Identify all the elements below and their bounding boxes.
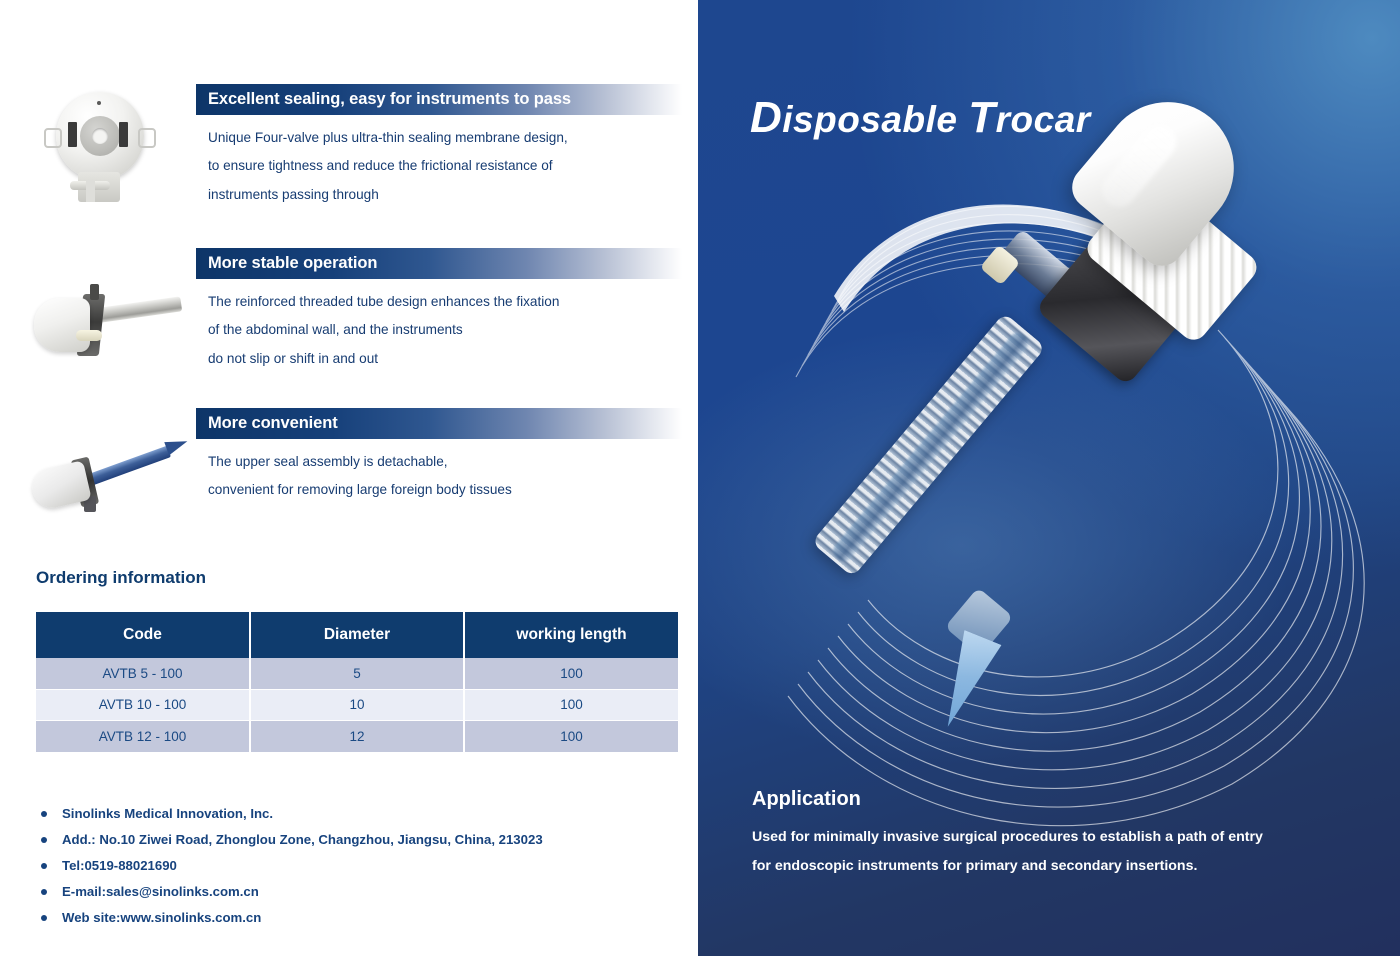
table-row: AVTB 5 - 100 5 100 [36,658,678,689]
trocar-seal-top-view-image [28,84,188,204]
feature-text-line: Unique Four-valve plus ultra-thin sealin… [208,128,682,147]
cell-diameter: 5 [250,658,464,689]
feature-text-line: do not slip or shift in and out [208,349,682,368]
contact-email[interactable]: E-mail:sales@sinolinks.com.cn [38,884,543,899]
page-title-initial-t: T [968,93,995,142]
cell-working-length: 100 [464,689,678,721]
page-title: Disposable Trocar [750,93,1091,143]
feature-text-line: of the abdominal wall, and the instrumen… [208,320,682,339]
feature-text-2: The reinforced threaded tube design enha… [196,279,682,368]
feature-text-1: Unique Four-valve plus ultra-thin sealin… [196,115,682,204]
application-title: Application [752,788,1352,811]
feature-text-line: convenient for removing large foreign bo… [208,480,682,499]
ordering-information-table: Code Diameter working length AVTB 5 - 10… [36,612,678,753]
cell-diameter: 12 [250,721,464,753]
trocar-obturator-image [28,422,188,542]
application-text-line: Used for minimally invasive surgical pro… [752,827,1352,848]
contact-website[interactable]: Web site:www.sinolinks.com.cn [38,910,543,925]
cell-working-length: 100 [464,658,678,689]
feature-text-line: to ensure tightness and reduce the frict… [208,156,682,175]
feature-title-bar-2: More stable operation [196,248,682,279]
column-header-code: Code [36,612,250,658]
feature-title-bar-1: Excellent sealing, easy for instruments … [196,84,682,115]
cell-code: AVTB 10 - 100 [36,689,250,721]
application-section: Application Used for minimally invasive … [752,788,1352,884]
cell-code: AVTB 12 - 100 [36,721,250,753]
contact-telephone: Tel:0519-88021690 [38,858,543,873]
column-header-diameter: Diameter [250,612,464,658]
contact-company-name: Sinolinks Medical Innovation, Inc. [38,806,543,821]
ordering-information-title: Ordering information [36,568,206,588]
column-header-working-length: working length [464,612,678,658]
contact-address: Add.: No.10 Ziwei Road, Zhonglou Zone, C… [38,832,543,847]
contact-information-list: Sinolinks Medical Innovation, Inc. Add.:… [38,806,543,936]
page-title-initial-d: D [750,93,782,142]
feature-text-line: The upper seal assembly is detachable, [208,452,682,471]
trocar-cannula-side-view-image [28,268,188,388]
left-panel: Excellent sealing, easy for instruments … [0,0,700,956]
feature-title-1: Excellent sealing, easy for instruments … [196,90,571,109]
cell-code: AVTB 5 - 100 [36,658,250,689]
table-header-row: Code Diameter working length [36,612,678,658]
application-text-line: for endoscopic instruments for primary a… [752,856,1352,877]
cell-working-length: 100 [464,721,678,753]
feature-text-line: instruments passing through [208,185,682,204]
feature-title-bar-3: More convenient [196,408,682,439]
table-row: AVTB 10 - 100 10 100 [36,689,678,721]
page-title-word-disposable: isposable [782,99,968,140]
feature-text-line: The reinforced threaded tube design enha… [208,292,682,311]
feature-text-3: The upper seal assembly is detachable, c… [196,439,682,500]
feature-title-2: More stable operation [196,254,377,273]
cell-diameter: 10 [250,689,464,721]
table-row: AVTB 12 - 100 12 100 [36,721,678,753]
feature-title-3: More convenient [196,414,338,433]
page-title-word-trocar: rocar [996,99,1091,140]
